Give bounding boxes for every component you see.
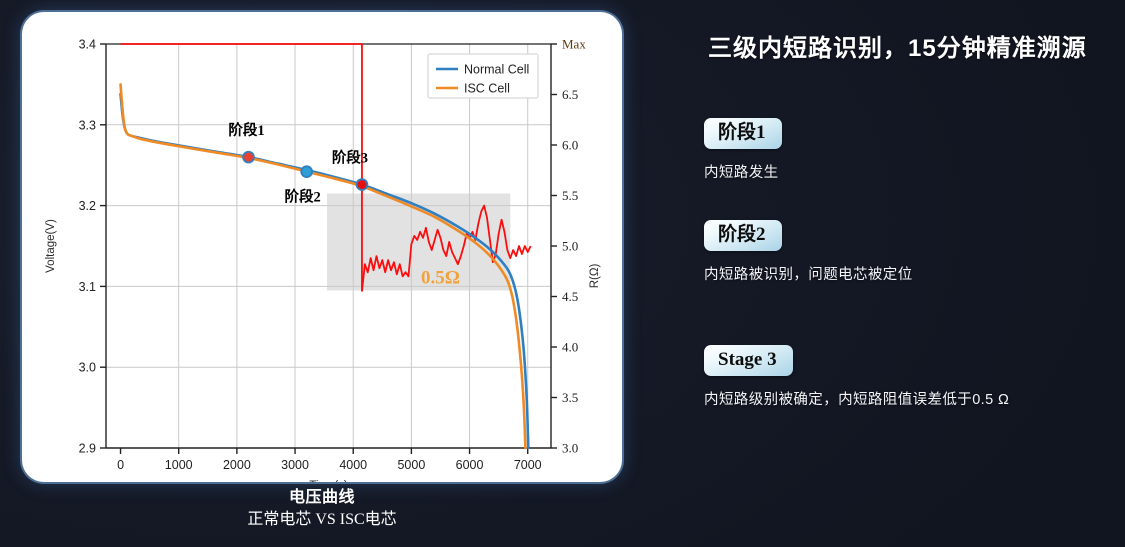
y-tick-label-left: 3.0	[79, 361, 96, 375]
y-tick-label-right: 5.5	[562, 188, 578, 203]
stage-marker-label-1: 阶段1	[228, 121, 264, 139]
caption-sub: 正常电芯 VS ISC电芯	[22, 509, 622, 531]
y-tick-label-right: 6.0	[562, 138, 578, 153]
stage-badge-3: Stage 3	[704, 345, 793, 376]
y-tick-label-right: 4.5	[562, 289, 578, 304]
stage-marker-dot-2[interactable]	[301, 166, 312, 177]
legend-label-2: ISC Cell	[464, 82, 510, 96]
x-tick-label: 3000	[281, 458, 309, 472]
chart-caption: 电压曲线 正常电芯 VS ISC电芯	[22, 487, 622, 531]
x-tick-label: 1000	[165, 458, 193, 472]
page-title: 三级内短路识别，15分钟精准溯源	[708, 28, 1087, 63]
x-tick-label: 4000	[339, 458, 367, 472]
stage-marker-label-3: 阶段3	[332, 149, 368, 167]
y-tick-label-right: 5.0	[562, 239, 578, 254]
y-axis-max-label: Max	[562, 37, 586, 52]
y-tick-label-left: 3.1	[79, 280, 96, 294]
ohm-annotation: 0.5Ω	[421, 267, 460, 288]
x-tick-label: 7000	[514, 458, 542, 472]
y-axis-title-left: Voltage(V)	[45, 219, 57, 273]
stage-desc-1: 内短路发生	[704, 161, 1124, 182]
stage-desc-2: 内短路被识别，问题电芯被定位	[704, 263, 1124, 284]
stage-marker-dot-3[interactable]	[357, 179, 368, 190]
caption-main: 电压曲线	[22, 487, 622, 509]
y-tick-label-left: 3.3	[79, 118, 96, 132]
y-tick-label-left: 3.4	[79, 38, 96, 52]
x-tick-label: 5000	[397, 458, 425, 472]
y-tick-label-left: 2.9	[79, 442, 96, 456]
y-tick-label-right: 4.0	[562, 340, 578, 355]
stage-marker-dot-1[interactable]	[243, 152, 254, 163]
stage-desc-3: 内短路级别被确定，内短路阻值误差低于0.5 Ω	[704, 388, 1124, 409]
stage-marker-label-2: 阶段2	[285, 188, 321, 206]
stage-block-3: Stage 3 内短路级别被确定，内短路阻值误差低于0.5 Ω	[704, 345, 1124, 409]
y-tick-label-right: 3.5	[562, 390, 578, 405]
x-axis-title: Time(s)	[309, 480, 348, 482]
stage-block-1: 阶段1 内短路发生	[704, 118, 1124, 182]
stage-badge-1: 阶段1	[704, 118, 782, 149]
y-tick-label-right: 6.5	[562, 87, 578, 102]
chart-plot-area: 2.93.03.13.23.33.43.03.54.04.55.05.56.06…	[22, 12, 622, 482]
right-panel: 三级内短路识别，15分钟精准溯源 阶段1 内短路发生 阶段2 内短路被识别，问题…	[660, 0, 1125, 547]
chart-card: 2.93.03.13.23.33.43.03.54.04.55.05.56.06…	[22, 12, 622, 482]
y-tick-label-right: 3.0	[562, 441, 578, 456]
legend-label-1: Normal Cell	[464, 63, 529, 77]
x-tick-label: 6000	[456, 458, 484, 472]
x-tick-label: 2000	[223, 458, 251, 472]
stage-block-2: 阶段2 内短路被识别，问题电芯被定位	[704, 220, 1124, 284]
y-tick-label-left: 3.2	[79, 199, 96, 213]
y-axis-title-right: R(Ω)	[589, 264, 601, 289]
stage-badge-2: 阶段2	[704, 220, 782, 251]
voltage-curve-chart: 2.93.03.13.23.33.43.03.54.04.55.05.56.06…	[22, 12, 622, 482]
x-tick-label: 0	[117, 458, 124, 472]
